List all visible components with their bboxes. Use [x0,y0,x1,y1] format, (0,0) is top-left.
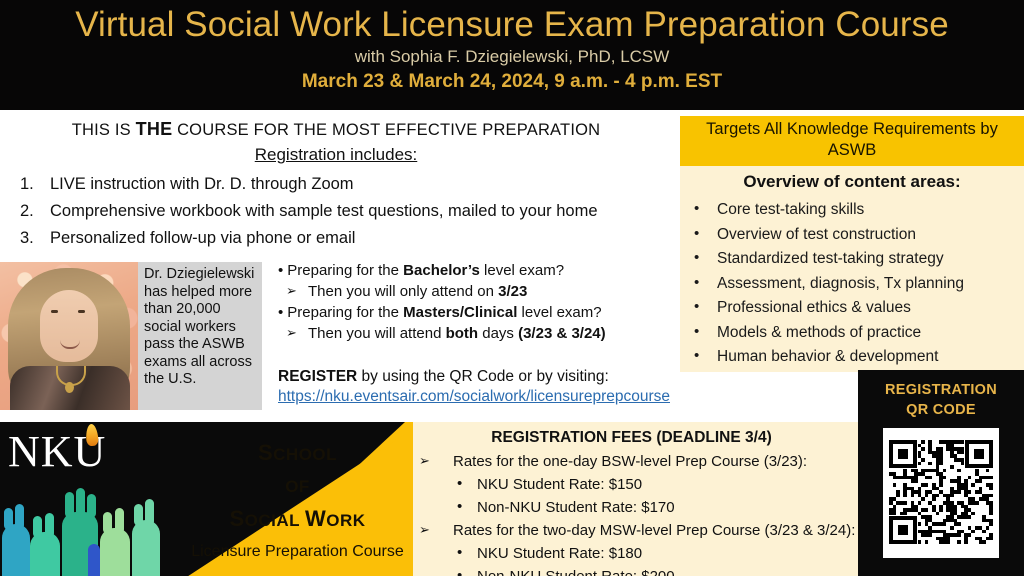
list-text: Standardized test-taking strategy [717,250,944,267]
qr-label-line-1: REGISTRATION [858,380,1024,400]
a2-mid: days [478,325,518,342]
fees-group-heading: ➢Rates for the one-day BSW-level Prep Co… [405,450,858,473]
photo-eye-left [51,310,58,313]
hand-shape [132,520,160,576]
hand-shape [100,528,130,576]
qr-modules [889,440,993,544]
photo-pendant [65,382,74,393]
bio-block: Dr. Dziegielewski has helped more than 2… [0,262,262,410]
slogan-line3-w: W [305,506,326,531]
fees-row: •NKU Student Rate: $180 [405,542,858,565]
list-text: Professional ethics & values [717,299,911,316]
q1-post: level exam? [480,262,564,279]
q1-emphasis: Bachelor’s [403,262,480,279]
presenter-photo [0,262,138,410]
list-text: Comprehensive workbook with sample test … [50,202,598,220]
raised-hands-graphic [0,488,175,576]
register-text: by using the QR Code or by visiting: [357,368,609,385]
registration-fees-panel: REGISTRATION FEES (DEADLINE 3/4) ➢Rates … [405,422,858,576]
nku-banner: NKU SCHOOL OF SOCIAL WORK Licensure Prep… [0,422,405,576]
register-emphasis: REGISTER [278,368,357,385]
photo-eye-right [78,310,85,313]
fees-row: •Non-NKU Student Rate: $170 [405,496,858,519]
arrow-icon: ➢ [419,449,430,472]
a1-emphasis: 3/23 [498,283,527,300]
headline-emphasis: THE [136,119,173,139]
fees-title: REGISTRATION FEES (DEADLINE 3/4) [405,422,858,448]
aswb-content-list: •Core test-taking skills •Overview of te… [680,198,1024,372]
registration-link[interactable]: https://nku.eventsair.com/socialwork/lic… [278,387,698,407]
arrow-icon: ➢ [286,280,297,301]
slogan-line3-s: S [229,506,244,531]
list-item: •Human behavior & development [680,345,1024,370]
fees-row-text: Non-NKU Student Rate: $170 [477,499,675,516]
list-text: Models & methods of practice [717,324,921,341]
qr-label: REGISTRATION QR CODE [858,370,1024,420]
q2-emphasis: Masters/Clinical [403,304,517,321]
list-text: Core test-taking skills [717,201,864,218]
list-number: 3. [20,225,34,252]
exam-level-section: •Preparing for the Bachelor’s level exam… [278,260,698,407]
qr-code-image[interactable] [883,428,999,558]
bullet-icon: • [457,472,462,495]
fees-group-text: Rates for the one-day BSW-level Prep Cou… [453,453,807,470]
course-dateline: March 23 & March 24, 2024, 9 a.m. - 4 p.… [0,70,1024,94]
a1-pre: Then you will only attend on [308,283,498,300]
bullet-icon: • [278,304,283,321]
list-text: LIVE instruction with Dr. D. through Zoo… [50,175,354,193]
nku-tagline: Licensure Preparation Course [190,538,405,566]
nku-slogan: SCHOOL OF SOCIAL WORK Licensure Preparat… [190,436,405,566]
list-text: Personalized follow-up via phone or emai… [50,229,355,247]
list-item: •Assessment, diagnosis, Tx planning [680,272,1024,297]
bullet-icon: • [457,495,462,518]
bullet-icon: • [694,197,699,222]
list-item: 2. Comprehensive workbook with sample te… [0,198,672,225]
slogan-line3-ork: ORK [326,511,365,530]
nku-logo: NKU [8,428,138,476]
a2-emphasis-2: (3/23 & 3/24) [518,325,606,342]
hand-shape [88,544,100,576]
fees-group-heading: ➢Rates for the two-day MSW-level Prep Co… [405,519,858,542]
list-number: 1. [20,171,34,198]
list-item: •Professional ethics & values [680,296,1024,321]
fees-row: •Non-NKU Student Rate: $200 [405,565,858,576]
hand-shape [2,524,30,576]
q2-pre: Preparing for the [287,304,403,321]
slogan-line-1: SCHOOL [190,436,405,472]
list-text: Overview of test construction [717,226,916,243]
list-item: •Core test-taking skills [680,198,1024,223]
flyer-canvas: Virtual Social Work Licensure Exam Prepa… [0,0,1024,576]
slogan-line-2: OF [190,472,405,502]
exam-level-answer-bachelor: ➢Then you will only attend on 3/23 [278,281,698,302]
registration-includes-list: 1. LIVE instruction with Dr. D. through … [0,171,672,252]
intro-section: THIS IS THE COURSE FOR THE MOST EFFECTIV… [0,118,672,252]
q1-pre: Preparing for the [287,262,403,279]
list-item: •Standardized test-taking strategy [680,247,1024,272]
photo-face [40,290,98,362]
q2-post: level exam? [517,304,601,321]
fees-row: •NKU Student Rate: $150 [405,473,858,496]
list-item: •Overview of test construction [680,223,1024,248]
fees-row-text: Non-NKU Student Rate: $200 [477,568,675,576]
arrow-icon: ➢ [419,518,430,541]
registration-includes-label: Registration includes: [255,145,418,164]
headline: THIS IS THE COURSE FOR THE MOST EFFECTIV… [0,118,672,141]
bullet-icon: • [457,564,462,576]
qr-label-line-2: QR CODE [858,400,1024,420]
slogan-line3-ocial: OCIAL [245,511,305,530]
bullet-icon: • [694,222,699,247]
hand-shape [30,532,60,576]
fees-row-text: NKU Student Rate: $180 [477,545,642,562]
exam-level-question-masters: •Preparing for the Masters/Clinical leve… [278,302,698,323]
bullet-icon: • [457,541,462,564]
list-item: •Models & methods of practice [680,321,1024,346]
headline-pre: THIS IS [72,121,136,139]
a2-emphasis: both [446,325,478,342]
aswb-band-title: Targets All Knowledge Requirements by AS… [680,116,1024,166]
list-item: 3. Personalized follow-up via phone or e… [0,225,672,252]
arrow-icon: ➢ [286,322,297,343]
qr-code-panel: REGISTRATION QR CODE [858,370,1024,576]
registration-includes-heading: Registration includes: [0,143,672,167]
list-item: 1. LIVE instruction with Dr. D. through … [0,171,672,198]
fees-group-text: Rates for the two-day MSW-level Prep Cou… [453,522,855,539]
fees-list: ➢Rates for the one-day BSW-level Prep Co… [405,450,858,576]
headline-post: COURSE FOR THE MOST EFFECTIVE PREPARATIO… [172,121,600,139]
register-instruction: REGISTER by using the QR Code or by visi… [278,366,698,387]
bio-caption-box: Dr. Dziegielewski has helped more than 2… [138,262,262,410]
list-text: Assessment, diagnosis, Tx planning [717,275,964,292]
presenter-name: with Sophia F. Dziegielewski, PhD, LCSW [0,46,1024,68]
list-number: 2. [20,198,34,225]
slogan-line-3: SOCIAL WORK [190,502,405,538]
page-title: Virtual Social Work Licensure Exam Prepa… [0,5,1024,45]
list-text: Human behavior & development [717,348,938,365]
aswb-content-panel: Targets All Knowledge Requirements by AS… [680,116,1024,372]
exam-level-question-bachelor: •Preparing for the Bachelor’s level exam… [278,260,698,281]
header-banner: Virtual Social Work Licensure Exam Prepa… [0,0,1024,110]
exam-level-answer-masters: ➢Then you will attend both days (3/23 & … [278,323,698,344]
slogan-line1-rest: CHOOL [273,445,337,464]
slogan-line1-cap: S [258,440,273,465]
bio-caption-text: Dr. Dziegielewski has helped more than 2… [138,262,262,389]
aswb-overview-title: Overview of content areas: [680,170,1024,194]
fees-row-text: NKU Student Rate: $150 [477,476,642,493]
a2-pre: Then you will attend [308,325,446,342]
bullet-icon: • [278,262,283,279]
